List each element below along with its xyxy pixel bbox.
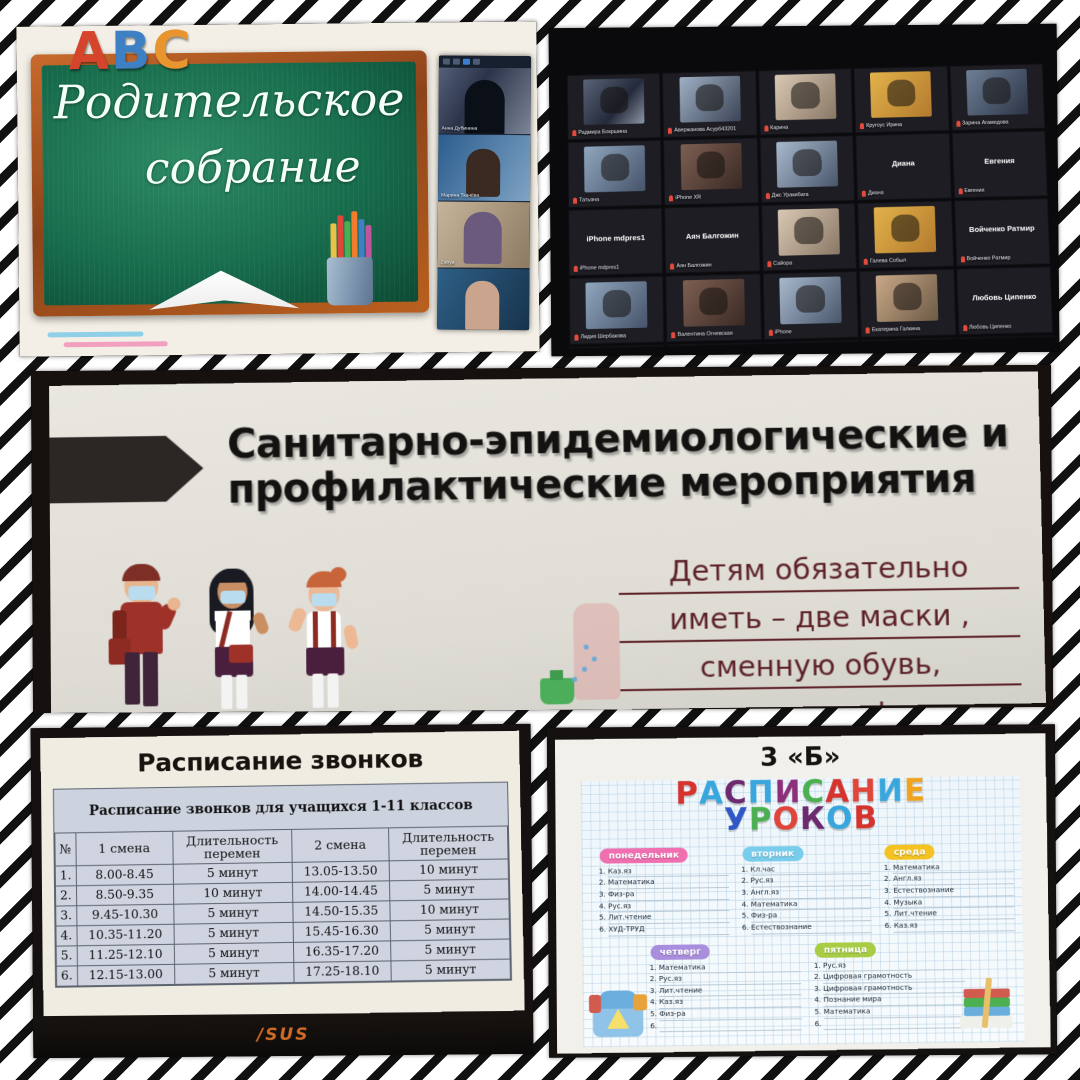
participant-name-row: Диана <box>862 189 947 197</box>
bell-table-cell: 5 минут <box>389 879 509 901</box>
participant-center-label: Аян Балгожин <box>666 231 759 242</box>
participant-name: Зарина Агамедова <box>962 120 1009 127</box>
weekday-card: вторникКл.часРус.язАнгл.язМатематикаФиз-… <box>732 842 872 934</box>
participant-video <box>438 68 530 135</box>
weekday-cards-row-1: понедельникКаз.язМатематикаФиз-раРус.язЛ… <box>590 840 1015 936</box>
monitor-chin: /SUS <box>33 1012 533 1058</box>
bell-table-cell: 14.50-15.35 <box>293 901 390 923</box>
zoom-participant-grid[interactable]: Радмира БокршинаАвержанова Асурб43201Кар… <box>567 63 1054 348</box>
lesson-list: МатематикаАнгл.язЕстествознаниеМузыкаЛит… <box>881 861 1015 932</box>
bell-table-cell: 5 минут <box>173 902 293 924</box>
microphone-icon <box>766 193 770 199</box>
participant-name: iPhone <box>775 329 792 335</box>
bell-table-cell: 17.25-18.10 <box>294 961 391 983</box>
participant-name: Авержанова Асурб43201 <box>674 126 736 133</box>
microphone-icon <box>572 130 576 136</box>
bell-table-cell: 5 минут <box>391 959 511 981</box>
monitor-screen: Расписание звонков Расписание звонков дл… <box>40 731 524 1018</box>
bell-table-cell: 5 минут <box>174 922 294 944</box>
slide-title-line-2: профилактические мероприятия <box>227 456 1017 512</box>
participant-name: Кругоус Ирина <box>866 122 902 129</box>
zoom-participant-tile[interactable]: iPhone XR <box>663 138 758 206</box>
bell-table-header-cell: Длительностьперемен <box>388 826 508 861</box>
participant-video <box>876 274 939 322</box>
bell-schedule-table-block: Расписание звонков для учащихся 1-11 кла… <box>53 782 512 988</box>
bell-table-cell: 6. <box>56 966 77 986</box>
photo-bell-schedule-monitor: Расписание звонков Расписание звонков дл… <box>31 724 534 1058</box>
zoom-participant-tile[interactable]: Радмира Бокршина <box>567 73 662 140</box>
participant-name: Сайора <box>773 260 792 266</box>
zoom-participant-tile[interactable]: Валентина Огневская <box>666 273 762 342</box>
weekday-card: понедельникКаз.язМатематикаФиз-раРус.язЛ… <box>590 844 730 936</box>
bell-schedule-subheading: Расписание звонков для учащихся 1-11 кла… <box>54 783 508 833</box>
asus-logo: /SUS <box>257 1025 310 1045</box>
zoom-participant-tile[interactable]: Татьяна <box>567 140 662 208</box>
participant-video <box>870 71 932 118</box>
photo-zoom-gallery-grid: Радмира БокршинаАвержанова Асурб43201Кар… <box>549 24 1060 356</box>
lesson-item <box>659 1019 801 1033</box>
participant-video <box>779 276 841 324</box>
microphone-icon <box>668 128 672 134</box>
lesson-list: Кл.часРус.язАнгл.язМатематикаФиз-раЕстес… <box>738 863 872 934</box>
participant-name-row: Аян Балгожин <box>670 261 756 269</box>
participant-name: Татьяна <box>579 197 599 203</box>
bell-table-cell: 1. <box>55 866 76 886</box>
participant-name: Евгения <box>964 188 984 194</box>
bell-table-cell: 10 минут <box>390 899 510 921</box>
weekday-name-tag: понедельник <box>600 847 689 863</box>
participant-name: Джс Уракибага <box>772 192 809 199</box>
participant-name-row: Зарина Агамедова <box>956 119 1041 127</box>
chalkboard-line-1: Родительское <box>42 76 416 127</box>
participant-name-row: Кругоус Ирина <box>860 121 945 129</box>
chalkboard-line-2: собрание <box>89 144 417 192</box>
participant-name-row: Радмира Бокршина <box>572 128 657 136</box>
zoom-participant-tile[interactable]: ДианаДиана <box>855 133 951 201</box>
bell-table-cell: 10.35-11.20 <box>77 924 174 946</box>
participant-video <box>583 78 644 125</box>
bell-table-cell: 8.00-8.45 <box>76 864 173 886</box>
photo-chalkboard-parents-meeting: ABC Родительское собрание Анна Дубинин <box>16 21 539 356</box>
participant-center-label: Любовь Ципенко <box>958 292 1051 303</box>
poster-title-letter: Р <box>749 806 773 836</box>
zoom-participant-tile[interactable]: Зарина Агамедова <box>949 63 1045 130</box>
participant-name-row: iPhone <box>769 328 855 336</box>
books-stack-icon <box>953 971 1020 1034</box>
poster-title-row-2: УРОКОВ <box>581 803 1021 838</box>
participant-name-row: Евгения <box>958 186 1044 194</box>
bell-table-cell: 2. <box>55 886 76 906</box>
participant-name-row: Карина <box>764 123 849 131</box>
zoom-participant-tile[interactable]: Галева Собыл <box>857 200 954 268</box>
poster-title-letter: Е <box>904 777 927 807</box>
participant-video <box>778 208 840 256</box>
zoom-participant-tile[interactable]: Сайора <box>761 203 857 271</box>
poster-title-letter: О <box>772 806 800 836</box>
microphone-icon <box>860 123 864 129</box>
child-girl-dark-icon <box>198 566 271 710</box>
participant-name-row: Джс Уракибага <box>766 191 851 199</box>
participant-name-row: Любовь Ципенко <box>963 323 1049 331</box>
zoom-participant-tile[interactable]: ЕвгенияЕвгения <box>951 131 1048 199</box>
participant-name-row: Войченко Ратмир <box>961 254 1047 262</box>
menu-icon[interactable] <box>443 59 450 65</box>
participant-name: Войченко Ратмир <box>967 255 1011 262</box>
poster-screen: 3 «Б» РАСПИСАНИЕ УРОКОВ понедельникКаз.я… <box>555 733 1051 1053</box>
microphone-icon <box>669 195 673 201</box>
letter-c-icon: C <box>152 21 193 81</box>
poster-title-letter: В <box>853 805 878 835</box>
microphone-icon <box>958 188 962 194</box>
zoom-participant-tile[interactable]: iPhone mdpres1iPhone mdpres1 <box>568 208 663 277</box>
zoom-participant-tile[interactable]: Аян БалгожинАян Балгожин <box>665 205 761 273</box>
photo-lesson-schedule-poster: 3 «Б» РАСПИСАНИЕ УРОКОВ понедельникКаз.я… <box>547 724 1057 1058</box>
child-boy-icon <box>108 563 181 711</box>
bell-table-cell: 16.35-17.20 <box>293 941 390 963</box>
poster-title: РАСПИСАНИЕ УРОКОВ <box>581 775 1021 837</box>
bell-table-cell: 4. <box>56 926 77 946</box>
zoom-participant-tile[interactable]: Авержанова Асурб43201 <box>662 70 757 137</box>
bell-table-cell: 5 минут <box>173 862 293 884</box>
bell-table-header-cell: Длительностьперемен <box>172 829 292 864</box>
zoom-participant-tile[interactable]: Лидия Шербакова <box>569 276 665 345</box>
participant-name-row: Татьяна <box>573 196 658 204</box>
bell-table-body: 1.8.00-8.455 минут13.05-13.5010 минут2.8… <box>55 859 510 986</box>
weekday-name-tag: четверг <box>651 944 711 960</box>
microphone-icon <box>769 330 773 336</box>
microphone-icon <box>864 259 868 265</box>
pencil-icon <box>47 331 143 337</box>
lesson-item: Каз.яз <box>894 919 1015 932</box>
participant-video <box>775 73 837 120</box>
lesson-list: Рус.язЦифровая грамотностьЦифровая грамо… <box>811 958 966 1030</box>
participant-name-row: Галева Собыл <box>864 257 950 265</box>
sidebar-video-tile[interactable] <box>437 269 529 331</box>
participant-center-label: Войченко Ратмир <box>955 223 1048 234</box>
photo-sanitary-measures-slide: Санитарно-эпидемиологические и профилакт… <box>31 365 1053 713</box>
participant-video <box>584 145 645 192</box>
zoom-participant-tile[interactable]: iPhone <box>762 271 859 340</box>
participant-video <box>966 69 1028 116</box>
pencil-cup-icon <box>318 223 381 306</box>
poster-title-letter: У <box>724 806 749 836</box>
zoom-sidebar-video-strip[interactable]: Анна Дубинина Марина Ткачёва Zabya <box>437 56 531 331</box>
microphone-icon <box>672 332 676 338</box>
bell-schedule-heading: Расписание звонков <box>40 743 519 779</box>
participant-name: Аян Балгожин <box>676 262 711 269</box>
zoom-participant-tile[interactable]: Карина <box>758 68 853 135</box>
participant-video <box>586 281 648 329</box>
bell-table-cell: 11.25-12.10 <box>77 944 174 966</box>
participant-name-row: Авержанова Асурб43201 <box>668 126 753 134</box>
bell-table-cell: 12.15-13.00 <box>77 964 174 986</box>
masked-children-illustration <box>102 556 414 711</box>
participant-name: Марина Ткачёва <box>441 193 479 199</box>
participant-name: Любовь Ципенко <box>969 324 1012 331</box>
grid-view-icon[interactable] <box>473 59 480 65</box>
poster-title-letter: Р <box>675 780 699 810</box>
bell-table-cell: 10 минут <box>389 859 509 881</box>
chalkboard-text: Родительское собрание <box>42 76 417 194</box>
participant-name: Галева Собыл <box>870 258 906 265</box>
bell-table-cell: 5 минут <box>390 939 510 961</box>
speaker-view-icon[interactable] <box>453 59 460 65</box>
letter-a-icon: A <box>68 22 111 82</box>
lesson-poster: РАСПИСАНИЕ УРОКОВ понедельникКаз.язМатем… <box>581 775 1025 1047</box>
schoolbag-icon <box>589 978 652 1037</box>
poster-title-letter: О <box>826 805 854 835</box>
microphone-icon <box>573 198 577 204</box>
bell-table-cell: 5. <box>56 946 77 966</box>
bell-table-cell: 10 минут <box>173 882 293 904</box>
bell-table-cell: 15.45-16.30 <box>293 921 390 943</box>
zoom-participant-tile[interactable]: Любовь ЦипенкоЛюбовь Ципенко <box>956 266 1053 335</box>
zoom-participant-tile[interactable]: Екатерина Галкина <box>859 269 956 338</box>
microphone-icon <box>956 121 960 127</box>
participant-name: Лидия Шербакова <box>580 333 626 340</box>
weekday-name-tag: вторник <box>742 846 803 862</box>
zoom-participant-tile[interactable]: Джс Уракибага <box>759 135 855 203</box>
weekday-name-tag: среда <box>885 844 935 860</box>
bell-schedule-table: №1 сменаДлительностьперемен2 сменаДлител… <box>54 825 511 986</box>
microphone-icon <box>670 263 674 269</box>
bell-table-cell: 8.50-9.35 <box>76 884 173 906</box>
letter-b-icon: B <box>110 21 152 81</box>
poster-title-letter: И <box>877 777 904 807</box>
lesson-list: Каз.язМатематикаФиз-раРус.язЛит.чтениеХУ… <box>596 865 729 936</box>
bell-table-cell: 13.05-13.50 <box>292 861 389 883</box>
microphone-icon <box>574 266 578 272</box>
poster-title-letter: А <box>699 779 724 809</box>
participant-name: Карина <box>770 125 788 131</box>
participant-video <box>874 206 936 254</box>
weekday-name-tag: пятница <box>815 942 877 958</box>
participant-video <box>776 141 838 188</box>
weekday-card: средаМатематикаАнгл.язЕстествознаниеМузы… <box>875 840 1015 932</box>
participant-name: Валентина Огневская <box>678 331 733 338</box>
sidebar-video-tile[interactable]: Марина Ткачёва <box>438 135 530 203</box>
bell-table-cell: 14.00-14.45 <box>292 881 389 903</box>
weekday-card: пятницаРус.язЦифровая грамотностьЦифрова… <box>805 937 967 1030</box>
slide-requirement-note: Детям обязательноиметь – две маски ,смен… <box>618 547 1023 713</box>
participant-video <box>679 76 740 123</box>
note-line: Детям обязательно <box>618 547 1019 595</box>
participant-name: Zabya <box>441 260 455 266</box>
microphone-icon <box>866 327 870 333</box>
weekday-card: четвергМатематикаРус.язЛит.чтениеКаз.язФ… <box>640 940 801 1033</box>
participant-name-row: iPhone mdpres1 <box>574 264 660 272</box>
lesson-item <box>824 1017 967 1031</box>
bell-table-cell: 9.45-10.30 <box>76 904 173 926</box>
weekday-cards-row-2: четвергМатематикаРус.язЛит.чтениеКаз.язФ… <box>640 937 966 1032</box>
participant-center-label: Диана <box>857 158 949 169</box>
poster-title-letter: К <box>800 805 827 835</box>
lesson-list: МатематикаРус.язЛит.чтениеКаз.язФиз-ра <box>647 961 802 1033</box>
gallery-view-icon[interactable] <box>463 59 470 65</box>
participant-video <box>682 279 744 327</box>
participant-video <box>437 269 529 331</box>
child-girl-red-icon <box>288 567 364 709</box>
bell-table-header-cell: № <box>55 833 76 866</box>
microphone-icon <box>764 125 768 131</box>
participant-video <box>438 135 530 202</box>
bell-table-cell: 5 минут <box>174 962 294 984</box>
class-label: 3 «Б» <box>555 739 1046 775</box>
participant-name: iPhone XR <box>675 195 701 202</box>
participant-name: Анна Дубинина <box>441 126 477 132</box>
lesson-item: ХУД-ТРУД <box>608 923 729 936</box>
participant-name-row: Екатерина Галкина <box>866 325 952 333</box>
microphone-icon <box>574 334 578 340</box>
microphone-icon <box>961 256 965 262</box>
participant-video <box>438 202 530 269</box>
participant-name: Диана <box>868 190 884 196</box>
zoom-participant-tile[interactable]: Кругоус Ирина <box>854 66 950 133</box>
participant-center-label: iPhone mdpres1 <box>569 233 662 244</box>
participant-name-row: iPhone XR <box>669 193 754 201</box>
slide-title: Санитарно-эпидемиологические и профилакт… <box>227 411 1017 512</box>
participant-name-row: Сайора <box>767 259 853 267</box>
microphone-icon <box>963 325 967 331</box>
participant-name-row: Лидия Шербакова <box>574 332 660 340</box>
bell-table-header-cell: 2 смена <box>291 828 388 862</box>
lesson-item: Естествознание <box>751 921 872 934</box>
sidebar-video-tile[interactable]: Zabya <box>438 202 530 270</box>
zoom-participant-tile[interactable]: Войченко РатмирВойченко Ратмир <box>954 198 1051 266</box>
participant-name: Радмира Бокршина <box>578 129 627 136</box>
participant-center-label: Евгения <box>953 156 1045 167</box>
microphone-icon <box>767 261 771 267</box>
participant-video <box>680 143 742 190</box>
bell-table-cell: 3. <box>56 906 77 926</box>
bell-table-cell: 5 минут <box>174 942 294 964</box>
sidebar-video-tile[interactable]: Анна Дубинина <box>438 68 530 136</box>
note-line: сменную обувь, <box>620 643 1022 691</box>
arrow-banner-icon <box>49 435 203 503</box>
participant-name: Екатерина Галкина <box>872 326 920 333</box>
slide-screen: Санитарно-эпидемиологические и профилакт… <box>49 371 1046 713</box>
participant-name-row: Валентина Огневская <box>672 330 758 338</box>
bell-table-header-cell: 1 смена <box>76 831 173 865</box>
participant-name: iPhone mdpres1 <box>580 265 619 272</box>
bell-table-cell: 5 минут <box>390 919 510 941</box>
note-line: иметь – две маски , <box>619 595 1020 643</box>
abc-letters: ABC <box>68 21 193 82</box>
zoom-sidebar-toolbar[interactable] <box>439 56 531 69</box>
microphone-icon <box>862 191 866 197</box>
